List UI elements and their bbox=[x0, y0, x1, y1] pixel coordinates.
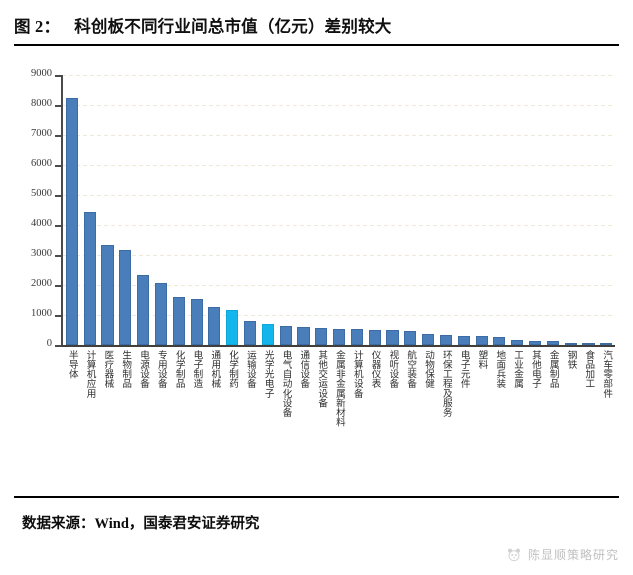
y-axis-tick-label: 4000 bbox=[12, 218, 52, 229]
bar-slot[interactable] bbox=[526, 75, 544, 345]
x-axis-tick-label: 电子制造 bbox=[192, 350, 202, 388]
bar[interactable] bbox=[119, 250, 131, 345]
bar-slot[interactable] bbox=[116, 75, 134, 345]
bar-slot[interactable] bbox=[277, 75, 295, 345]
bar-slot[interactable] bbox=[241, 75, 259, 345]
bar-slot[interactable] bbox=[134, 75, 152, 345]
panda-logo-icon bbox=[506, 547, 522, 563]
y-axis-tick-label: 3000 bbox=[12, 248, 52, 259]
bar[interactable] bbox=[547, 341, 559, 345]
watermark: 陈显顺策略研究 bbox=[506, 546, 619, 563]
x-axis-label-slot: 金属制品 bbox=[544, 350, 562, 388]
bar[interactable] bbox=[191, 299, 203, 345]
bar[interactable] bbox=[511, 340, 523, 345]
bar-slot[interactable] bbox=[206, 75, 224, 345]
bar-slot[interactable] bbox=[437, 75, 455, 345]
x-axis-tick-label: 计算机应用 bbox=[85, 350, 95, 398]
x-axis-label-slot: 地面兵装 bbox=[491, 350, 509, 388]
y-axis-tick-label: 7000 bbox=[12, 128, 52, 139]
bar[interactable] bbox=[458, 336, 470, 345]
bar-slot[interactable] bbox=[508, 75, 526, 345]
x-axis-label-slot: 通信设备 bbox=[295, 350, 313, 388]
bar[interactable] bbox=[262, 324, 274, 345]
bar-slot[interactable] bbox=[580, 75, 598, 345]
y-axis-tick-label: 9000 bbox=[12, 68, 52, 79]
bar-slot[interactable] bbox=[312, 75, 330, 345]
x-axis-tick-label: 视听设备 bbox=[388, 350, 398, 388]
title-divider bbox=[14, 44, 619, 46]
x-axis-tick-label: 运输设备 bbox=[245, 350, 255, 388]
x-axis-label-slot: 金属非金属新材料 bbox=[330, 350, 348, 427]
x-axis-label-slot: 计算机应用 bbox=[81, 350, 99, 398]
bar[interactable] bbox=[404, 331, 416, 345]
x-axis-labels: 半导体计算机应用医疗器械生物制品电源设备专用设备化学制品电子制造通用机械化学制药… bbox=[63, 350, 615, 490]
bar-slot[interactable] bbox=[544, 75, 562, 345]
x-axis-label-slot: 环保工程及服务 bbox=[437, 350, 455, 417]
x-axis-label-slot: 通用机械 bbox=[206, 350, 224, 388]
x-axis-label-slot: 仪器仪表 bbox=[366, 350, 384, 388]
y-axis-tick-label: 1000 bbox=[12, 308, 52, 319]
bar[interactable] bbox=[66, 98, 78, 345]
x-axis-tick-label: 生物制品 bbox=[120, 350, 130, 388]
x-axis-tick-label: 动物保健 bbox=[423, 350, 433, 388]
bar[interactable] bbox=[386, 330, 398, 345]
bar-slot[interactable] bbox=[455, 75, 473, 345]
x-axis-tick-label: 其他交运设备 bbox=[316, 350, 326, 408]
bar-slot[interactable] bbox=[170, 75, 188, 345]
page-title: 科创板不同行业间总市值（亿元）差别较大 bbox=[74, 13, 391, 37]
y-axis-tick bbox=[55, 165, 62, 167]
footer-divider bbox=[14, 496, 619, 498]
x-axis-tick-label: 化学制品 bbox=[174, 350, 184, 388]
x-axis-tick-label: 通用机械 bbox=[210, 350, 220, 388]
bar[interactable] bbox=[297, 327, 309, 345]
x-axis-label-slot: 汽车零部件 bbox=[597, 350, 615, 398]
bar-slot[interactable] bbox=[384, 75, 402, 345]
x-axis-label-slot: 医疗器械 bbox=[99, 350, 117, 388]
x-axis-label-slot: 其他交运设备 bbox=[312, 350, 330, 408]
bar-slot[interactable] bbox=[562, 75, 580, 345]
y-axis-tick bbox=[55, 195, 62, 197]
x-axis-tick-label: 医疗器械 bbox=[103, 350, 113, 388]
bar-slot[interactable] bbox=[597, 75, 615, 345]
bar[interactable] bbox=[155, 283, 167, 345]
x-axis-label-slot: 运输设备 bbox=[241, 350, 259, 388]
y-axis-tick bbox=[55, 315, 62, 317]
x-axis-label-slot: 航空装备 bbox=[401, 350, 419, 388]
x-axis-tick-label: 电源设备 bbox=[138, 350, 148, 388]
bar-slot[interactable] bbox=[473, 75, 491, 345]
watermark-text: 陈显顺策略研究 bbox=[528, 546, 619, 563]
x-axis-label-slot: 食品加工 bbox=[580, 350, 598, 388]
x-axis-tick-label: 光学光电子 bbox=[263, 350, 273, 398]
figure-number: 图 2： bbox=[14, 13, 60, 37]
bar[interactable] bbox=[208, 307, 220, 345]
y-axis-tick bbox=[55, 135, 62, 137]
bar[interactable] bbox=[101, 245, 113, 345]
x-axis-label-slot: 半导体 bbox=[63, 350, 81, 379]
y-axis-tick bbox=[55, 255, 62, 257]
y-axis-tick bbox=[55, 105, 62, 107]
bar-slot[interactable] bbox=[63, 75, 81, 345]
bar[interactable] bbox=[137, 275, 149, 345]
bar[interactable] bbox=[582, 343, 594, 345]
bar[interactable] bbox=[440, 335, 452, 345]
x-axis-tick-label: 钢铁 bbox=[566, 350, 576, 369]
y-axis-tick bbox=[55, 345, 62, 347]
bar[interactable] bbox=[565, 343, 577, 345]
bar[interactable] bbox=[351, 329, 363, 345]
bar-slot[interactable] bbox=[152, 75, 170, 345]
y-axis-tick-label: 6000 bbox=[12, 158, 52, 169]
x-axis-tick-label: 汽车零部件 bbox=[601, 350, 611, 398]
x-axis-tick-label: 化学制药 bbox=[227, 350, 237, 388]
bar-slot[interactable] bbox=[401, 75, 419, 345]
x-axis-tick-label: 电气自动化设备 bbox=[281, 350, 291, 417]
x-axis-tick-label: 金属制品 bbox=[548, 350, 558, 388]
x-axis-label-slot: 化学制品 bbox=[170, 350, 188, 388]
x-axis-label-slot: 动物保健 bbox=[419, 350, 437, 388]
y-axis-tick-label: 2000 bbox=[12, 278, 52, 289]
bar-slot[interactable] bbox=[348, 75, 366, 345]
x-axis-tick-label: 工业金属 bbox=[512, 350, 522, 388]
bar-slot[interactable] bbox=[366, 75, 384, 345]
bar[interactable] bbox=[333, 329, 345, 345]
x-axis-tick-label: 塑料 bbox=[477, 350, 487, 369]
x-axis-label-slot: 电源设备 bbox=[134, 350, 152, 388]
x-axis-tick-label: 地面兵装 bbox=[495, 350, 505, 388]
x-axis-tick-label: 仪器仪表 bbox=[370, 350, 380, 388]
y-axis-tick bbox=[55, 75, 62, 77]
y-axis-tick bbox=[55, 225, 62, 227]
y-axis-tick-label: 0 bbox=[12, 338, 52, 349]
bar-slot[interactable] bbox=[81, 75, 99, 345]
x-axis-label-slot: 其他电子 bbox=[526, 350, 544, 388]
bar[interactable] bbox=[369, 330, 381, 345]
source-note: 数据来源：Wind，国泰君安证券研究 bbox=[22, 512, 259, 533]
x-axis-tick-label: 电子元件 bbox=[459, 350, 469, 388]
x-axis-tick-label: 航空装备 bbox=[405, 350, 415, 388]
bar-slot[interactable] bbox=[491, 75, 509, 345]
bar-slot[interactable] bbox=[188, 75, 206, 345]
x-axis-tick-label: 半导体 bbox=[67, 350, 77, 379]
bar[interactable] bbox=[476, 336, 488, 345]
x-axis-tick-label: 金属非金属新材料 bbox=[334, 350, 344, 427]
x-axis-line bbox=[61, 345, 615, 347]
x-axis-label-slot: 化学制药 bbox=[223, 350, 241, 388]
bar-slot[interactable] bbox=[223, 75, 241, 345]
bar[interactable] bbox=[280, 326, 292, 345]
x-axis-tick-label: 其他电子 bbox=[530, 350, 540, 388]
x-axis-label-slot: 计算机设备 bbox=[348, 350, 366, 398]
x-axis-label-slot: 生物制品 bbox=[116, 350, 134, 388]
x-axis-label-slot: 视听设备 bbox=[384, 350, 402, 388]
bar-slot[interactable] bbox=[295, 75, 313, 345]
x-axis-label-slot: 专用设备 bbox=[152, 350, 170, 388]
bar[interactable] bbox=[315, 328, 327, 345]
x-axis-tick-label: 计算机设备 bbox=[352, 350, 362, 398]
x-axis-tick-label: 专用设备 bbox=[156, 350, 166, 388]
bar-slot[interactable] bbox=[330, 75, 348, 345]
x-axis-tick-label: 通信设备 bbox=[299, 350, 309, 388]
x-axis-label-slot: 电气自动化设备 bbox=[277, 350, 295, 417]
x-axis-label-slot: 光学光电子 bbox=[259, 350, 277, 398]
bar[interactable] bbox=[529, 341, 541, 346]
x-axis-label-slot: 工业金属 bbox=[508, 350, 526, 388]
bar-slot[interactable] bbox=[99, 75, 117, 345]
bar-slot[interactable] bbox=[419, 75, 437, 345]
bar[interactable] bbox=[422, 334, 434, 345]
bar-slot[interactable] bbox=[259, 75, 277, 345]
y-axis-tick-label: 8000 bbox=[12, 98, 52, 109]
bar[interactable] bbox=[600, 343, 612, 345]
bar[interactable] bbox=[173, 297, 185, 345]
x-axis-label-slot: 电子制造 bbox=[188, 350, 206, 388]
bar[interactable] bbox=[84, 212, 96, 345]
y-axis-tick bbox=[55, 285, 62, 287]
x-axis-label-slot: 电子元件 bbox=[455, 350, 473, 388]
bar[interactable] bbox=[226, 310, 238, 345]
y-axis-tick-label: 5000 bbox=[12, 188, 52, 199]
bar[interactable] bbox=[493, 337, 505, 345]
figure-page: 图 2： 科创板不同行业间总市值（亿元）差别较大 010002000300040… bbox=[0, 0, 633, 575]
x-axis-tick-label: 食品加工 bbox=[584, 350, 594, 388]
bar-chart: 0100020003000400050006000700080009000 半导… bbox=[14, 50, 619, 490]
x-axis-label-slot: 塑料 bbox=[473, 350, 491, 369]
bar-series bbox=[63, 75, 615, 345]
figure-title-bar: 图 2： 科创板不同行业间总市值（亿元）差别较大 bbox=[14, 8, 619, 42]
x-axis-tick-label: 环保工程及服务 bbox=[441, 350, 451, 417]
bar[interactable] bbox=[244, 321, 256, 345]
y-axis-labels: 0100020003000400050006000700080009000 bbox=[14, 75, 52, 345]
x-axis-label-slot: 钢铁 bbox=[562, 350, 580, 369]
